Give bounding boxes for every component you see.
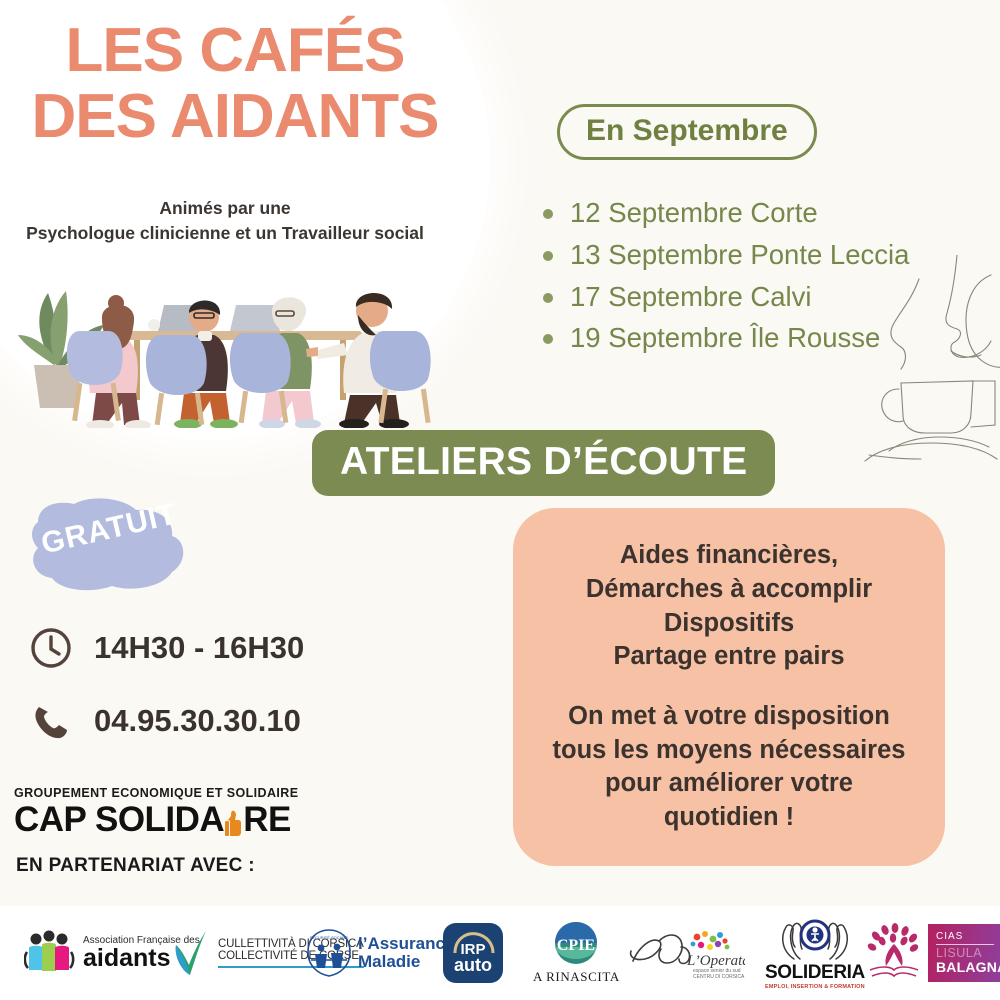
meeting-illustration xyxy=(8,243,448,428)
organizer-tagline: GROUPEMENT ECONOMIQUE ET SOLIDAIRE xyxy=(14,786,298,800)
partner-logo-irpauto: IRP auto xyxy=(443,906,503,1000)
workshop-banner: ATELIERS D’ÉCOUTE xyxy=(312,430,775,496)
month-badge: En Septembre xyxy=(557,104,817,160)
subtitle-line-2: Psychologue clinicienne et un Travailleu… xyxy=(0,221,450,246)
operata-script-icon: L’Operata espace senior du sud CENTRU DI… xyxy=(625,927,745,979)
cias-line-1: CIAS xyxy=(936,931,1000,942)
details-line-8: quotidien ! xyxy=(664,801,794,835)
headline-line-2: DES AIDANTS xyxy=(0,84,470,150)
corsica-check-icon xyxy=(170,927,212,979)
assurance-line-2: Maladie xyxy=(358,953,454,971)
partner-logo-cias: CIAS LISULA BALAGNA xyxy=(862,906,1000,1000)
assurance-figures-icon: SÉCURITÉ SOCIALE xyxy=(305,928,353,978)
cias-divider xyxy=(936,944,994,945)
subtitle-line-1: Animés par une xyxy=(0,196,450,221)
details-line-3: Dispositifs xyxy=(664,607,794,641)
organizer-name-part-1: CAP SOLIDA xyxy=(14,802,224,839)
cias-line-3: BALAGNA xyxy=(936,960,1000,975)
partner-logo-solideria: SOLIDERIA EMPLOI, INSERTION & FORMATION xyxy=(765,906,865,1000)
hours-row: 14H30 - 16H30 xyxy=(30,627,304,669)
details-line-7: pour améliorer votre xyxy=(605,767,853,801)
afa-people-icon xyxy=(24,930,76,976)
phone-text[interactable]: 04.95.30.30.10 xyxy=(94,703,301,739)
cias-tree-icon xyxy=(862,922,926,984)
partner-logo-cpie: CPIE A RINASCITA xyxy=(533,906,620,1000)
details-line-2: Démarches à accomplir xyxy=(586,573,872,607)
hours-text: 14H30 - 16H30 xyxy=(94,630,304,666)
face-with-cup-lineart xyxy=(855,255,1000,470)
subtitle: Animés par une Psychologue clinicienne e… xyxy=(0,196,450,246)
thumbs-up-icon xyxy=(225,809,242,837)
solideria-sub: EMPLOI, INSERTION & FORMATION xyxy=(765,984,865,990)
operata-name: L’Operata xyxy=(686,953,745,969)
details-line-5: On met à votre disposition xyxy=(568,700,890,734)
details-box: Aides financières, Démarches à accomplir… xyxy=(513,508,945,866)
list-item: 12 Septembre Corte xyxy=(532,192,1000,234)
poster-root: LES CAFÉS DES AIDANTS Animés par une Psy… xyxy=(0,0,1000,1000)
solideria-hands-icon xyxy=(772,917,858,963)
operata-sub-2: CENTRU DI CORSICA xyxy=(693,974,745,979)
phone-row[interactable]: 04.95.30.30.10 xyxy=(30,700,301,742)
cpie-name: A RINASCITA xyxy=(533,969,620,985)
partner-logo-assurance: SÉCURITÉ SOCIALE l’Assurance Maladie xyxy=(305,906,454,1000)
details-line-1: Aides financières, xyxy=(620,539,838,573)
headline-line-1: LES CAFÉS xyxy=(66,16,405,85)
organizer-name: CAP SOLIDA RE xyxy=(14,802,298,839)
partner-logo-strip: Association Française des aidants CULLET… xyxy=(0,906,1000,1000)
details-line-4: Partage entre pairs xyxy=(613,640,844,674)
partner-logo-operata: L’Operata espace senior du sud CENTRU DI… xyxy=(625,906,745,1000)
partner-intro-label: EN PARTENARIAT AVEC : xyxy=(16,855,255,877)
irpauto-line-2: auto xyxy=(443,955,503,976)
cpie-globe-icon: CPIE xyxy=(546,921,606,969)
cpie-acronym: CPIE xyxy=(557,937,595,954)
page-title: LES CAFÉS DES AIDANTS xyxy=(0,18,470,149)
cias-name-plate: CIAS LISULA BALAGNA xyxy=(928,924,1000,982)
free-badge: GRATUIT xyxy=(20,492,220,602)
organizer-name-part-2: RE xyxy=(243,802,291,839)
organizer-logo: GROUPEMENT ECONOMIQUE ET SOLIDAIRE CAP S… xyxy=(14,786,298,839)
assurance-motto: SÉCURITÉ SOCIALE xyxy=(310,935,349,940)
details-line-6: tous les moyens nécessaires xyxy=(553,734,906,768)
solideria-name: SOLIDERIA xyxy=(765,963,865,982)
assurance-line-1: l’Assurance xyxy=(358,935,454,953)
phone-icon xyxy=(30,700,72,742)
clock-icon xyxy=(30,627,72,669)
